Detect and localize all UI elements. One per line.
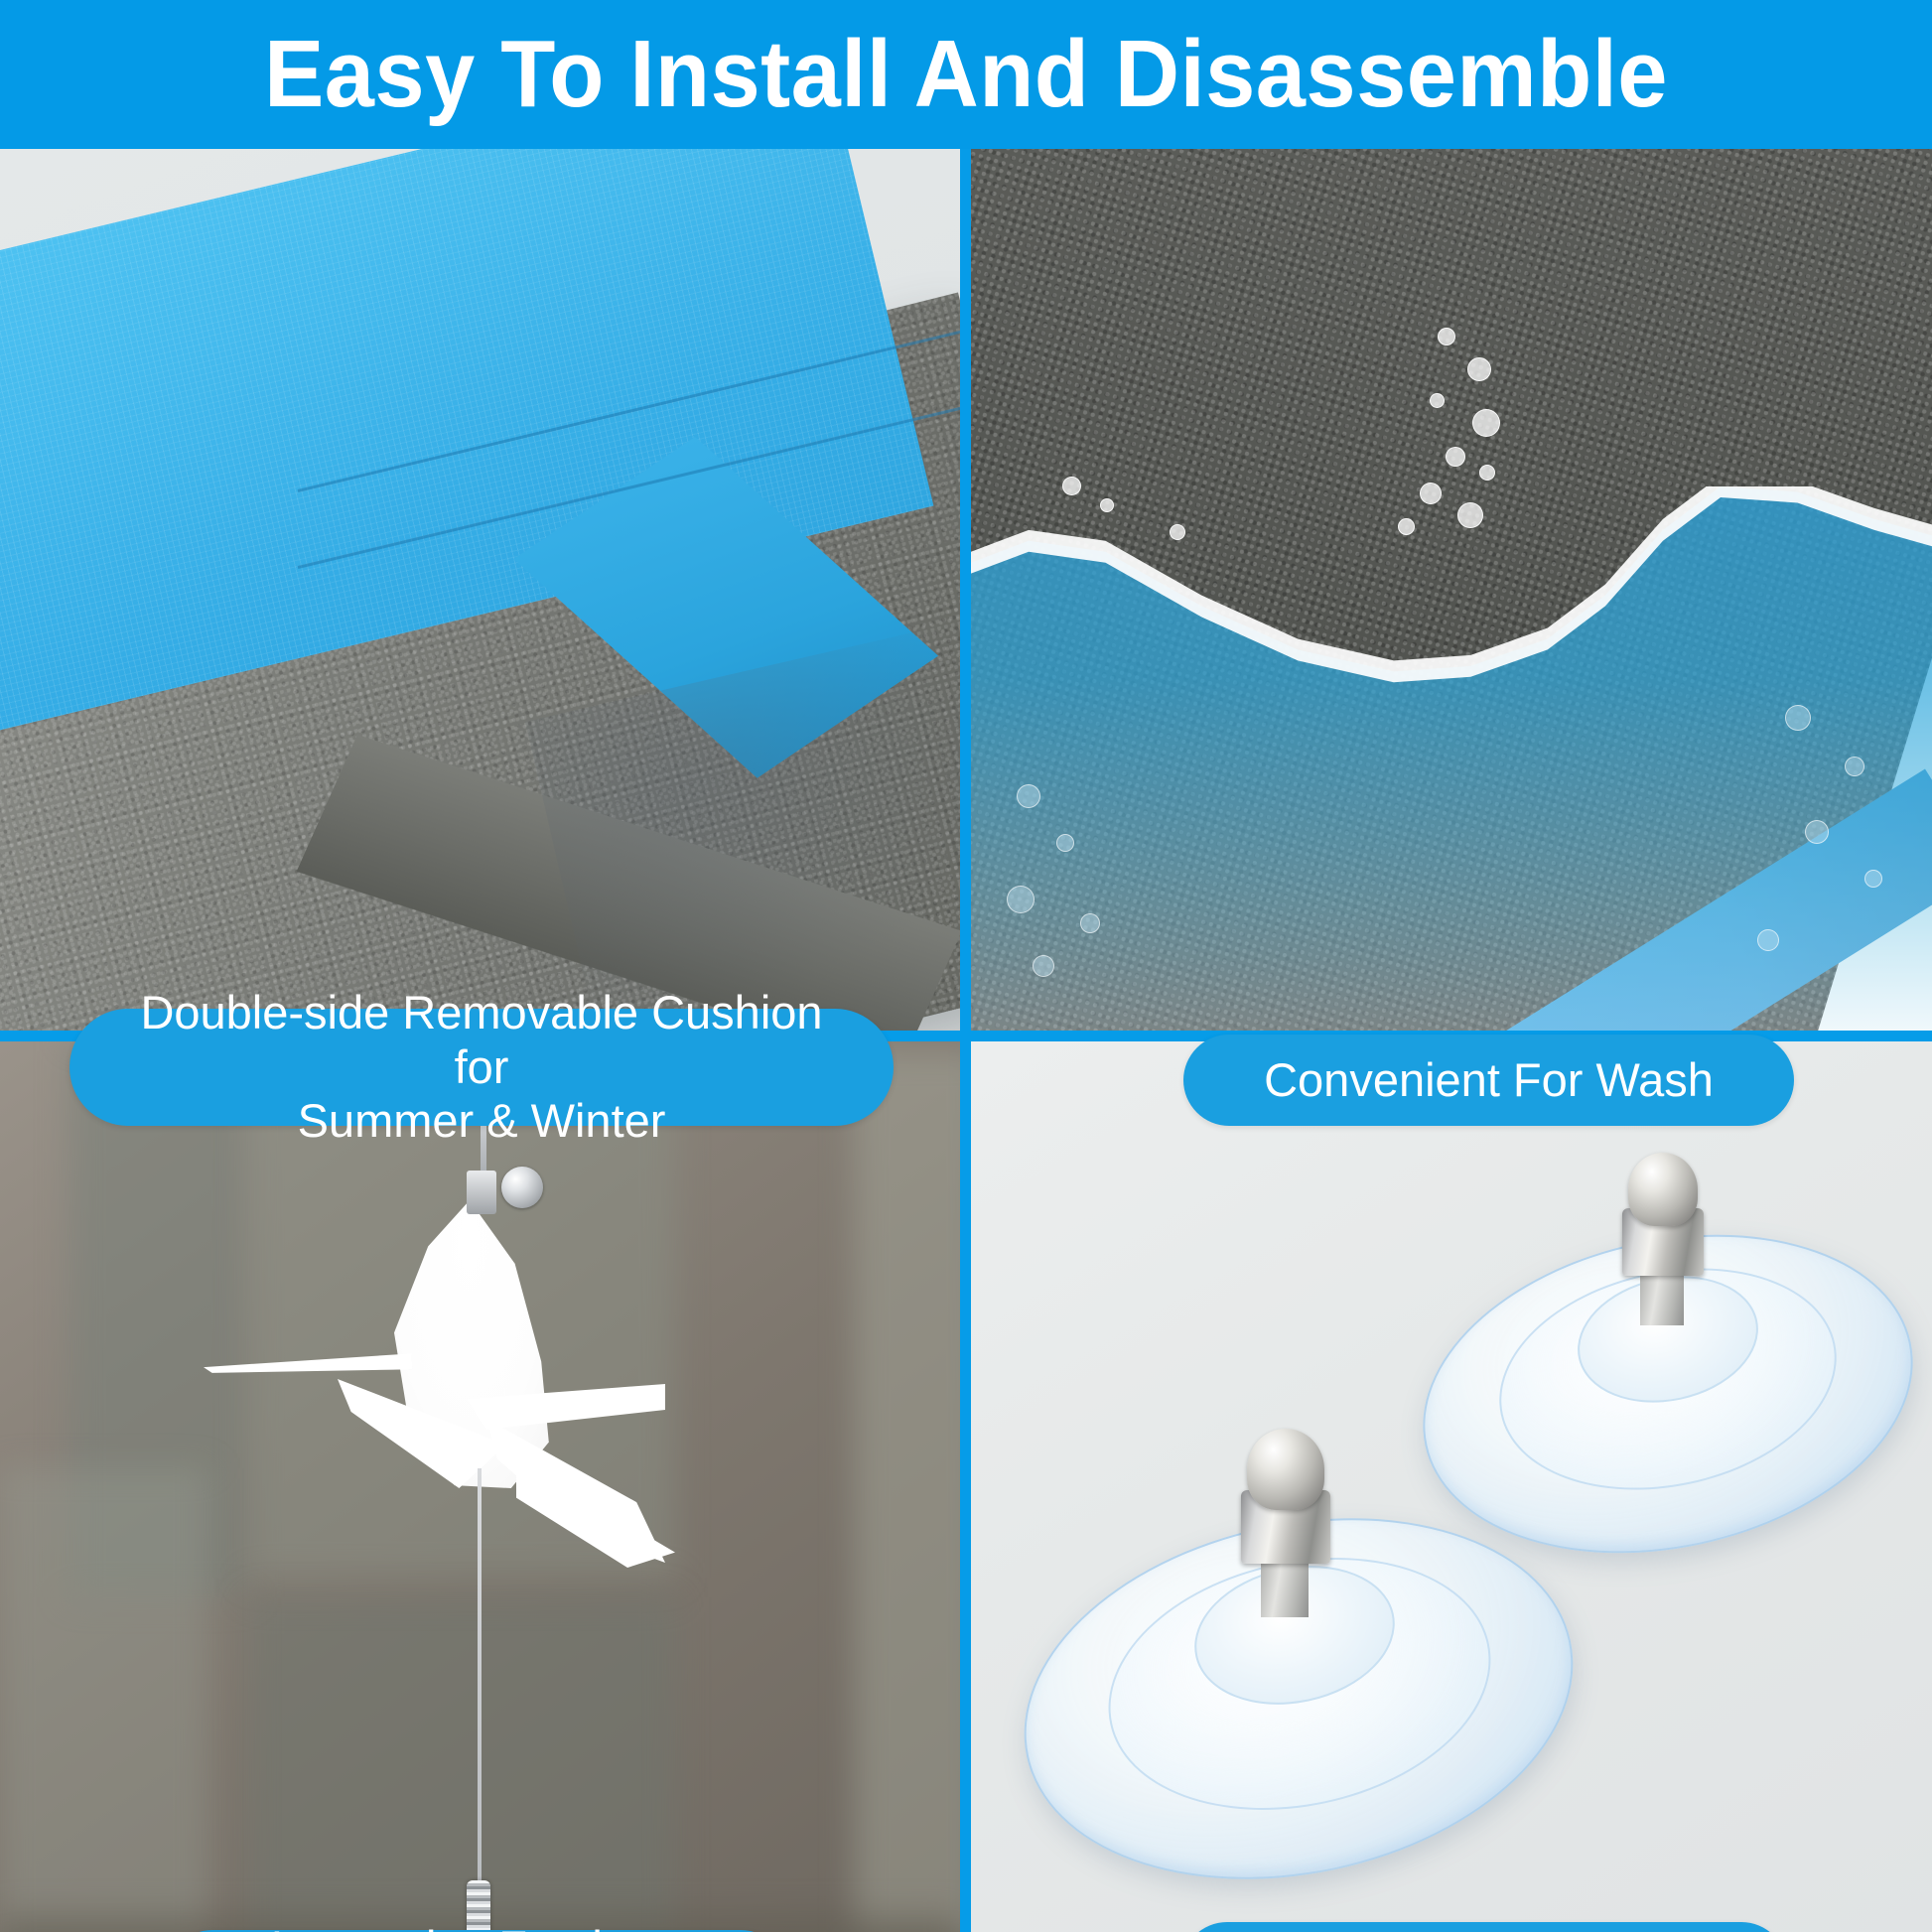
- panel-strong-suction-cups: [971, 1041, 1932, 1932]
- background-window-frame: [248, 1597, 675, 1932]
- suction-cup-dome-nut: [1247, 1429, 1324, 1510]
- wand-wire: [478, 1468, 482, 1885]
- caption-double-side-cushion: Double-side Removable Cushion for Summer…: [69, 1009, 894, 1126]
- wand-bell: [501, 1167, 543, 1208]
- caption-convenient-for-wash: Convenient For Wash: [1183, 1035, 1794, 1126]
- caption-text: Double-side Removable Cushion for Summer…: [109, 986, 854, 1149]
- background-wall-panel: [0, 1468, 208, 1932]
- feature-grid: Double-side Removable Cushion for Summer…: [0, 149, 1932, 1932]
- page-title: Easy To Install And Disassemble: [264, 27, 1668, 122]
- panel-interactive-feathers-wand: [0, 1041, 960, 1932]
- header-banner: Easy To Install And Disassemble: [0, 0, 1932, 149]
- wand-ferrule-cap: [467, 1171, 496, 1214]
- panel-convenient-for-wash: [971, 149, 1932, 1031]
- panel-double-side-cushion: [0, 149, 960, 1031]
- suction-cup-dome-nut: [1628, 1153, 1698, 1226]
- caption-strong-suction-cups: Strong Suction Cups: [1181, 1922, 1787, 1932]
- product-infographic: Easy To Install And Disassemble: [0, 0, 1932, 1932]
- background-window-frame: [854, 1051, 960, 1932]
